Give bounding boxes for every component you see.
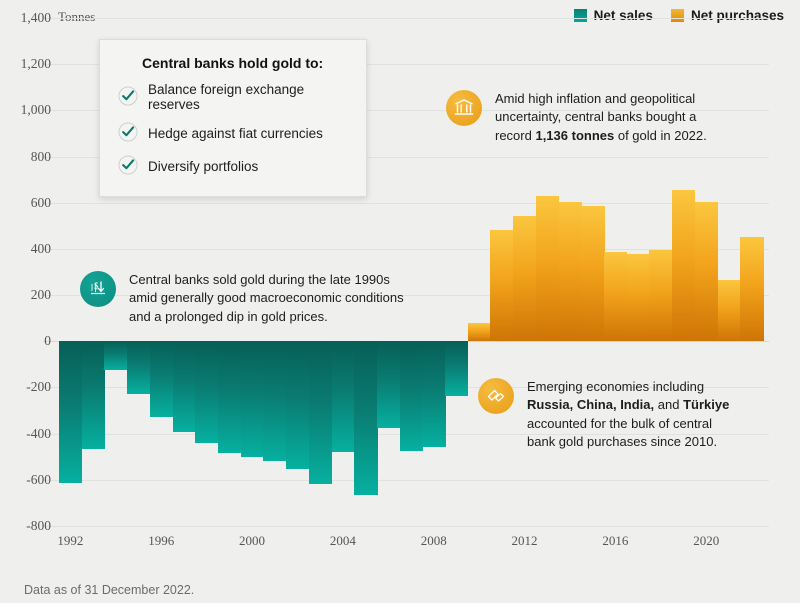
y-axis-tick-label: 1,400 bbox=[0, 10, 51, 26]
chart-bar bbox=[309, 341, 332, 484]
chart-bar bbox=[695, 202, 718, 342]
chart-bar bbox=[468, 323, 491, 341]
factbox-item-label: Hedge against fiat currencies bbox=[148, 126, 323, 141]
y-axis-tick-label: 600 bbox=[0, 195, 51, 211]
y-axis-tick-label: -200 bbox=[0, 379, 51, 395]
y-axis-tick-label: 200 bbox=[0, 287, 51, 303]
annotation-line: amid generally good macroeconomic condit… bbox=[129, 289, 404, 307]
chart-bar bbox=[59, 341, 82, 483]
chart-bar bbox=[581, 206, 604, 341]
chart-bar bbox=[104, 341, 127, 370]
dollar-down-arrow-icon: $ bbox=[80, 271, 116, 307]
y-axis-tick-label: -600 bbox=[0, 472, 51, 488]
y-axis-tick-label: 400 bbox=[0, 241, 51, 257]
check-circle-icon bbox=[118, 155, 138, 178]
chart-bar bbox=[354, 341, 377, 495]
central-banks-hold-gold-callout: Central banks hold gold to: Balance fore… bbox=[99, 39, 367, 197]
annotation-line: Central banks sold gold during the late … bbox=[129, 271, 404, 289]
annotation-line-post: and bbox=[654, 397, 683, 412]
x-axis-tick-label: 2020 bbox=[693, 533, 719, 549]
emerging-economies-annotation-text: Emerging economies including Russia, Chi… bbox=[527, 378, 729, 452]
bank-building-icon bbox=[446, 90, 482, 126]
check-circle-icon bbox=[118, 86, 138, 109]
x-axis-tick-label: 2016 bbox=[602, 533, 628, 549]
x-axis-tick-label: 2004 bbox=[330, 533, 356, 549]
chart-bar bbox=[627, 254, 650, 342]
y-axis-tick-label: 1,000 bbox=[0, 102, 51, 118]
net-sales-annotation-text: Central banks sold gold during the late … bbox=[129, 271, 404, 326]
chart-bar bbox=[604, 252, 627, 341]
annotation-line: and a prolonged dip in gold prices. bbox=[129, 308, 404, 326]
svg-text:$: $ bbox=[94, 281, 99, 291]
gold-bars-icon bbox=[478, 378, 514, 414]
chart-bar bbox=[241, 341, 264, 456]
annotation-line: bank gold purchases since 2010. bbox=[527, 433, 729, 451]
factbox-item-1: Hedge against fiat currencies bbox=[118, 122, 348, 145]
check-circle-icon bbox=[118, 122, 138, 145]
annotation-line: uncertainty, central banks bought a bbox=[495, 108, 707, 126]
annotation-line: Emerging economies including bbox=[527, 378, 729, 396]
chart-bar bbox=[82, 341, 105, 448]
chart-bar bbox=[445, 341, 468, 395]
emerging-economies-annotation: Emerging economies including Russia, Chi… bbox=[478, 378, 768, 452]
net-sales-annotation: $ Central banks sold gold during the lat… bbox=[80, 271, 440, 326]
factbox-item-label: Balance foreign exchange reserves bbox=[148, 82, 348, 112]
factbox-item-2: Diversify portfolios bbox=[118, 155, 348, 178]
annotation-line-bold2: Türkiye bbox=[683, 397, 729, 412]
record-2022-annotation: Amid high inflation and geopolitical unc… bbox=[446, 90, 746, 145]
chart-bar bbox=[218, 341, 241, 453]
x-axis-tick-label: 1992 bbox=[57, 533, 83, 549]
chart-bar bbox=[718, 280, 741, 341]
x-axis-tick-label: 1996 bbox=[148, 533, 174, 549]
annotation-line-bold: 1,136 tonnes bbox=[535, 128, 614, 143]
record-2022-annotation-text: Amid high inflation and geopolitical unc… bbox=[495, 90, 707, 145]
y-axis-tick-label: -800 bbox=[0, 518, 51, 534]
annotation-line-bold: Russia, China, India, bbox=[527, 397, 654, 412]
gridline bbox=[43, 526, 769, 527]
chart-bar bbox=[513, 216, 536, 342]
footnote: Data as of 31 December 2022. bbox=[24, 583, 194, 597]
y-axis-tick-label: 0 bbox=[0, 333, 51, 349]
annotation-line: Russia, China, India, and Türkiye bbox=[527, 396, 729, 414]
annotation-line: accounted for the bulk of central bbox=[527, 415, 729, 433]
chart-bar bbox=[536, 196, 559, 341]
chart-bar bbox=[649, 250, 672, 342]
factbox-title: Central banks hold gold to: bbox=[142, 55, 348, 71]
chart-bar bbox=[422, 341, 445, 447]
factbox-item-0: Balance foreign exchange reserves bbox=[118, 82, 348, 112]
chart-bar bbox=[173, 341, 196, 432]
y-axis-tick-label: -400 bbox=[0, 426, 51, 442]
chart-bar bbox=[400, 341, 423, 451]
annotation-line: record 1,136 tonnes of gold in 2022. bbox=[495, 127, 707, 145]
chart-bar bbox=[377, 341, 400, 428]
chart-bar bbox=[672, 190, 695, 341]
factbox-item-label: Diversify portfolios bbox=[148, 159, 258, 174]
chart-bar bbox=[740, 237, 763, 341]
chart-bar bbox=[195, 341, 218, 443]
chart-bar bbox=[150, 341, 173, 417]
x-axis-tick-label: 2008 bbox=[421, 533, 447, 549]
annotation-line: Amid high inflation and geopolitical bbox=[495, 90, 707, 108]
chart-bar bbox=[286, 341, 309, 469]
x-axis-tick-label: 2000 bbox=[239, 533, 265, 549]
y-axis-tick-label: 1,200 bbox=[0, 56, 51, 72]
annotation-line-pre: record bbox=[495, 128, 535, 143]
x-axis-tick-label: 2012 bbox=[512, 533, 538, 549]
annotation-line-post: of gold in 2022. bbox=[614, 128, 707, 143]
y-axis-tick-label: 800 bbox=[0, 149, 51, 165]
chart-bar bbox=[263, 341, 286, 461]
chart-bar bbox=[127, 341, 150, 394]
chart-bar bbox=[559, 202, 582, 341]
chart-bar bbox=[490, 230, 513, 341]
chart-bar bbox=[332, 341, 355, 452]
